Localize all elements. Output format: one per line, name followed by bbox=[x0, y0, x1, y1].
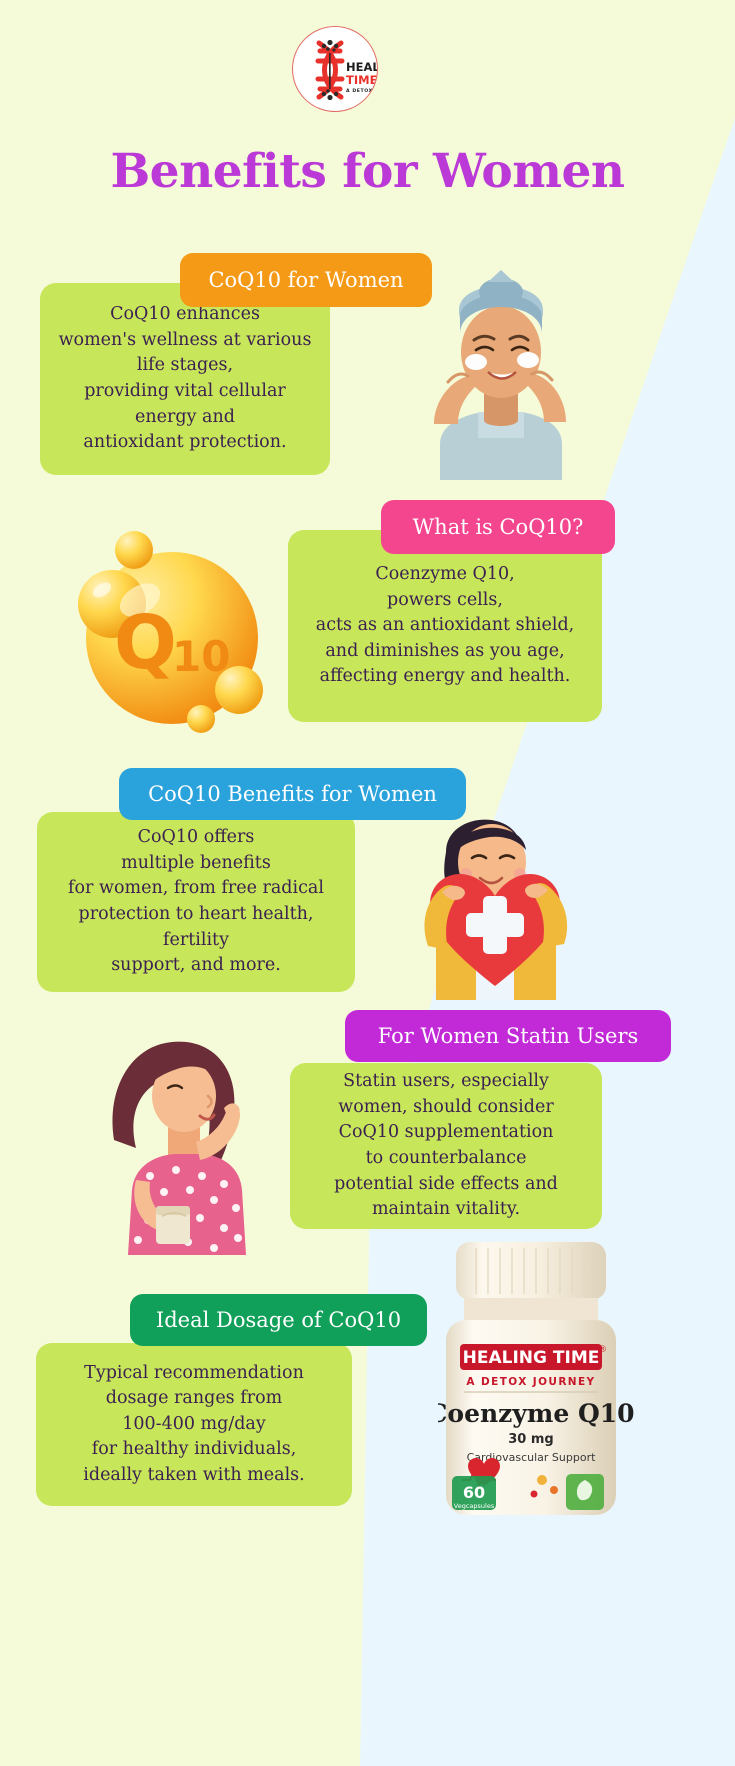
bottle-brand: HEALING TIME bbox=[463, 1348, 600, 1368]
bottle-tagline: A DETOX JOURNEY bbox=[466, 1376, 595, 1388]
illustration-supplement-bottle: HEALING TIME ® A DETOX JOURNEY Coenzyme … bbox=[438, 1240, 673, 1515]
card-coq10-benefits-for-women: CoQ10 offers multiple benefits for women… bbox=[37, 812, 355, 992]
card-coq10-for-women: CoQ10 enhances women's wellness at vario… bbox=[40, 283, 330, 475]
badge-for-women-statin-users[interactable]: For Women Statin Users bbox=[345, 1010, 671, 1062]
card-body-ideal-dosage-of-coq10: Typical recommendation dosage ranges fro… bbox=[83, 1361, 304, 1489]
badge-label: CoQ10 Benefits for Women bbox=[148, 782, 437, 806]
logo-artwork: HEALING TIME A DETOX JOURNEY bbox=[293, 27, 378, 112]
illustration-woman-holding-heart bbox=[398, 800, 596, 1000]
card-for-women-statin-users: Statin users, especially women, should c… bbox=[290, 1063, 602, 1229]
card-body-coq10-for-women: CoQ10 enhances women's wellness at vario… bbox=[59, 302, 312, 455]
badge-coq10-benefits-for-women[interactable]: CoQ10 Benefits for Women bbox=[119, 768, 466, 820]
page-title: Benefits for Women bbox=[0, 144, 735, 199]
card-body-coq10-benefits-for-women: CoQ10 offers multiple benefits for women… bbox=[68, 825, 324, 978]
card-body-what-is-coq10: Coenzyme Q10, powers cells, acts as an a… bbox=[316, 562, 574, 690]
logo-text-time: TIME bbox=[346, 73, 378, 87]
badge-label: What is CoQ10? bbox=[413, 515, 584, 539]
badge-coq10-for-women[interactable]: CoQ10 for Women bbox=[180, 253, 432, 307]
badge-label: Ideal Dosage of CoQ10 bbox=[156, 1308, 401, 1332]
molecule-label-10: 10 bbox=[172, 632, 230, 681]
illustration-woman-taking-pill bbox=[96, 1030, 286, 1255]
illustration-q10-molecule-sphere: Q 10 bbox=[54, 508, 284, 736]
badge-what-is-coq10[interactable]: What is CoQ10? bbox=[381, 500, 615, 554]
bottle-strength: 30 mg bbox=[508, 1432, 553, 1447]
badge-label: CoQ10 for Women bbox=[208, 268, 403, 292]
logo-text-healing: HEALING bbox=[346, 60, 378, 74]
card-what-is-coq10: Coenzyme Q10, powers cells, acts as an a… bbox=[288, 530, 602, 722]
badge-label: For Women Statin Users bbox=[378, 1024, 639, 1048]
molecule-label-q: Q bbox=[114, 600, 177, 686]
card-body-for-women-statin-users: Statin users, especially women, should c… bbox=[334, 1069, 558, 1222]
badge-ideal-dosage-of-coq10[interactable]: Ideal Dosage of CoQ10 bbox=[130, 1294, 427, 1346]
healing-time-logo: HEALING TIME A DETOX JOURNEY bbox=[292, 26, 378, 112]
bottle-brand-mark: ® bbox=[598, 1345, 607, 1355]
bottle-product-name: Coenzyme Q10 bbox=[438, 1399, 635, 1428]
bottle-count: 60 bbox=[463, 1483, 485, 1502]
card-ideal-dosage-of-coq10: Typical recommendation dosage ranges fro… bbox=[36, 1343, 352, 1506]
bottle-count-unit: Vegcapsules bbox=[454, 1502, 495, 1510]
